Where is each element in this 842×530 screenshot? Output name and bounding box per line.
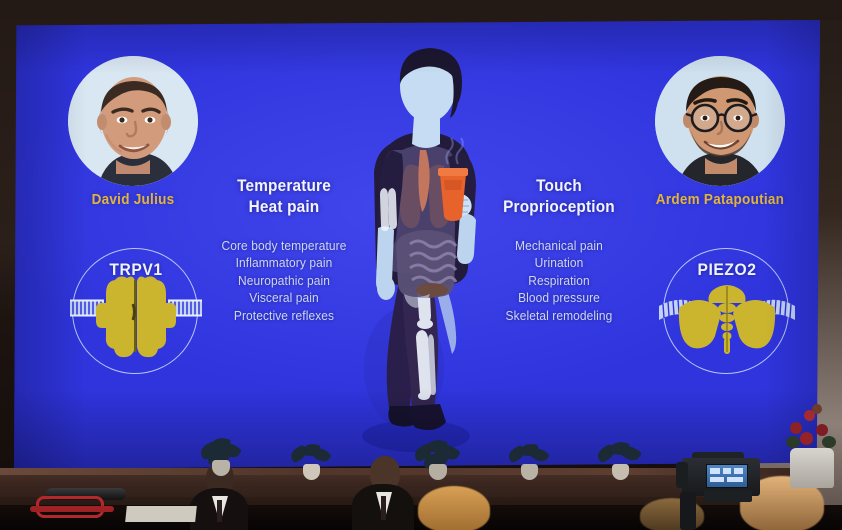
speaker-left-tie <box>217 500 222 522</box>
pot <box>212 460 230 476</box>
microphone-base <box>30 506 114 512</box>
flower <box>790 422 802 434</box>
flower <box>816 424 828 436</box>
foliage <box>786 436 800 448</box>
flower <box>800 432 813 445</box>
flower <box>812 404 822 414</box>
foreground-room <box>0 0 842 530</box>
microphone <box>30 486 134 512</box>
pot <box>429 464 447 480</box>
audience-head-left <box>418 486 490 530</box>
camera-display <box>706 464 748 488</box>
potted-plant <box>198 438 242 476</box>
pot <box>303 464 320 480</box>
potted-plant <box>414 440 460 480</box>
camera-lens <box>676 462 688 488</box>
foliage <box>822 436 836 448</box>
camera-control-panel <box>704 490 752 502</box>
flower-vase <box>790 448 834 488</box>
seated-speaker-center <box>352 456 414 530</box>
potted-plant <box>506 444 550 480</box>
flower-arrangement <box>786 402 840 454</box>
camera-grip <box>680 492 696 530</box>
speaker-center-tie <box>381 496 386 520</box>
pot <box>612 464 629 480</box>
press-conference-scene: David Julius <box>0 0 842 530</box>
potted-plant <box>596 442 642 480</box>
potted-plant <box>288 444 332 480</box>
pot <box>521 464 538 480</box>
papers <box>125 506 197 522</box>
video-camera <box>676 452 766 530</box>
